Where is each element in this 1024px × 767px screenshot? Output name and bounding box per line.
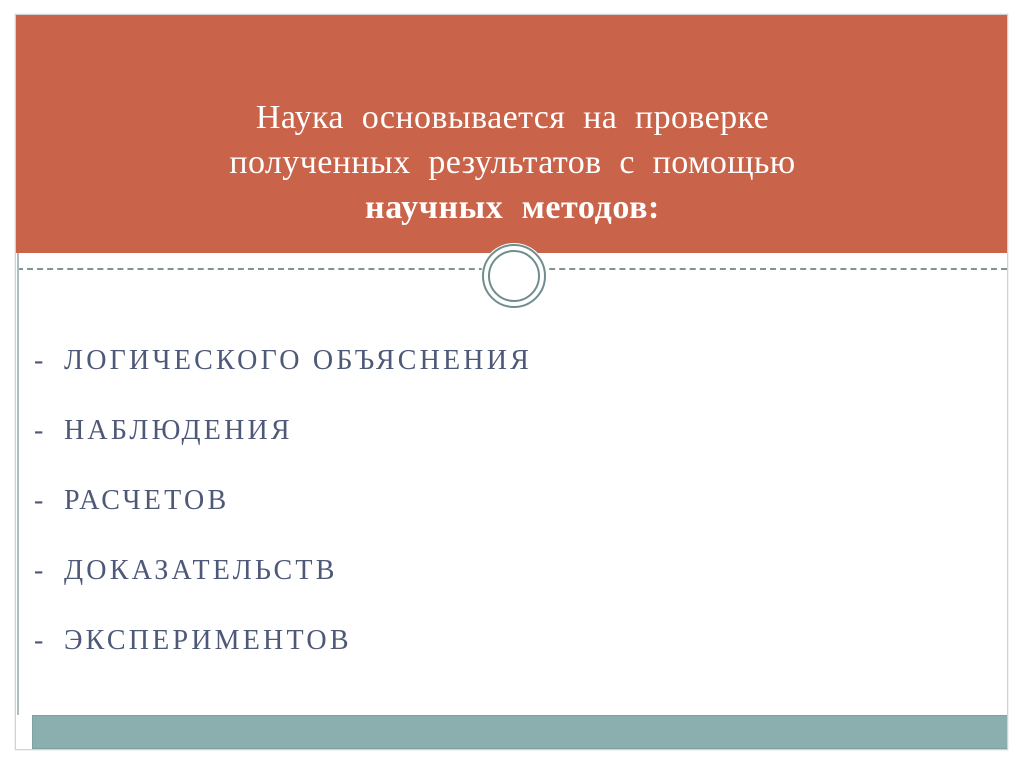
list-item: - РАСЧЕТОВ: [34, 485, 984, 555]
list-item-label: ЛОГИЧЕСКОГО ОБЪЯСНЕНИЯ: [64, 345, 532, 377]
bullet-dash-icon: -: [34, 555, 64, 587]
slide-header-band: Наука основывается на проверке полученны…: [16, 15, 1008, 253]
slide-title-line-2: полученных результатов с помощью: [229, 140, 795, 185]
slide-page: Наука основывается на проверке полученны…: [0, 0, 1024, 767]
list-item-label: ДОКАЗАТЕЛЬСТВ: [64, 555, 338, 587]
presentation-slide: Наука основывается на проверке полученны…: [15, 14, 1008, 750]
bullet-dash-icon: -: [34, 485, 64, 517]
slide-title-block: Наука основывается на проверке полученны…: [16, 15, 1008, 253]
list-item-label: НАБЛЮДЕНИЯ: [64, 415, 293, 447]
bullet-dash-icon: -: [34, 625, 64, 657]
left-accent-rule: [17, 253, 19, 715]
list-item-label: ЭКСПЕРИМЕНТОВ: [64, 625, 352, 657]
list-item: - ЛОГИЧЕСКОГО ОБЪЯСНЕНИЯ: [34, 345, 984, 415]
slide-title-line-3: научных методов:: [365, 185, 660, 230]
list-item: - ДОКАЗАТЕЛЬСТВ: [34, 555, 984, 625]
concentric-circles-icon: [481, 243, 547, 309]
bullet-dash-icon: -: [34, 415, 64, 447]
list-item: - НАБЛЮДЕНИЯ: [34, 415, 984, 485]
bullet-dash-icon: -: [34, 345, 64, 377]
list-item: - ЭКСПЕРИМЕНТОВ: [34, 625, 984, 695]
list-item-label: РАСЧЕТОВ: [64, 485, 229, 517]
slide-body-list: - ЛОГИЧЕСКОГО ОБЪЯСНЕНИЯ - НАБЛЮДЕНИЯ - …: [34, 345, 984, 695]
ornament-inner-ring: [488, 250, 540, 302]
slide-footer-bar: [32, 715, 1008, 749]
slide-title-line-1: Наука основывается на проверке: [256, 95, 769, 140]
